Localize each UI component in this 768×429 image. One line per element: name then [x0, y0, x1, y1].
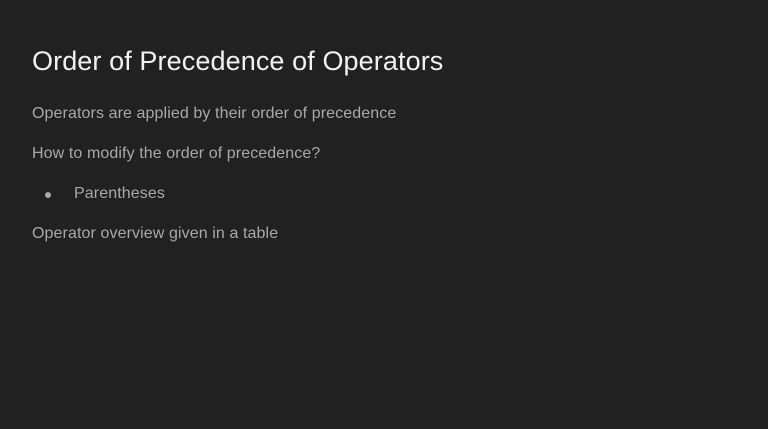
body-line: How to modify the order of precedence?	[32, 144, 732, 164]
body-line: Operator overview given in a table	[32, 224, 732, 244]
page-title: Order of Precedence of Operators	[32, 44, 443, 78]
presentation-slide: Order of Precedence of Operators Operato…	[0, 0, 768, 429]
body-line: Operators are applied by their order of …	[32, 104, 732, 124]
body-line-text: Parentheses	[74, 185, 165, 202]
slide-body: Operators are applied by their order of …	[32, 104, 732, 244]
body-line-text: Operator overview given in a table	[32, 225, 278, 242]
body-line-bulleted: Parentheses	[32, 184, 732, 204]
body-line-text: How to modify the order of precedence?	[32, 145, 320, 162]
body-line-text: Operators are applied by their order of …	[32, 105, 396, 122]
bullet-dot-icon	[45, 192, 51, 198]
